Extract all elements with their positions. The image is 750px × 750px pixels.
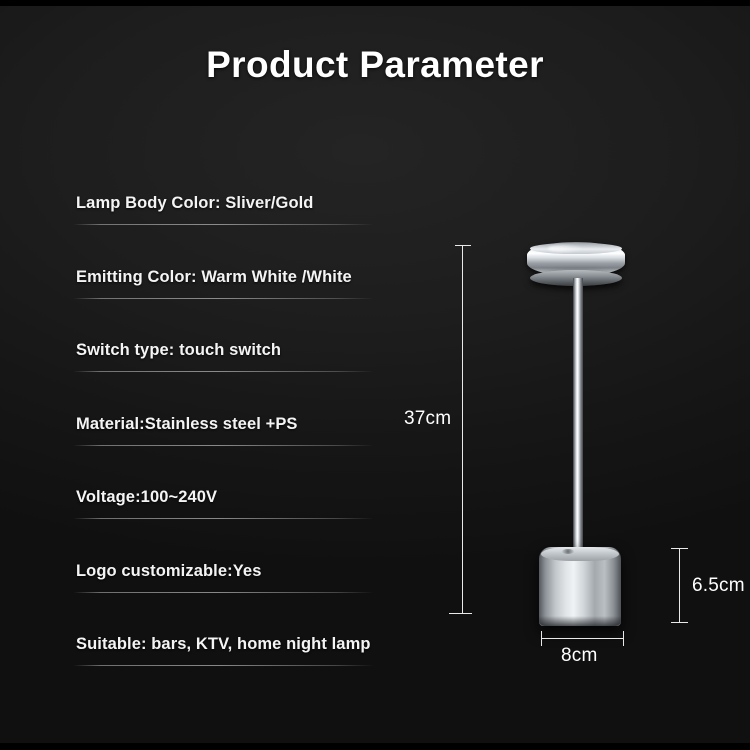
spec-row-material: Material:Stainless steel +PS <box>74 415 374 489</box>
spec-label-material: Material:Stainless steel +PS <box>76 415 298 434</box>
spec-divider <box>74 665 372 666</box>
product-parameter-page: Product Parameter Lamp Body Color: Slive… <box>0 0 750 750</box>
spec-label-voltage: Voltage:100~240V <box>76 488 217 507</box>
dimension-tick-total-height-top <box>455 245 471 246</box>
dimension-label-base-height: 6.5cm <box>692 575 745 597</box>
dimension-tick-base-width-right <box>623 631 624 646</box>
dimension-tick-base-height-top <box>671 548 688 549</box>
bottom-edge-bar <box>0 743 750 750</box>
spec-divider <box>74 445 372 446</box>
dimension-line-total-height <box>462 245 463 614</box>
spec-label-lamp-body-color: Lamp Body Color: Sliver/Gold <box>76 194 314 213</box>
dimension-line-base-height <box>679 548 680 623</box>
spec-row-switch-type: Switch type: touch switch <box>74 341 374 415</box>
spec-row-emitting-color: Emitting Color: Warm White /White <box>74 268 374 342</box>
dimension-tick-total-height-bottom <box>449 613 472 614</box>
spec-divider <box>74 592 372 593</box>
lamp-base <box>539 547 621 626</box>
spec-label-switch-type: Switch type: touch switch <box>76 341 281 360</box>
lamp-base-screw <box>562 549 574 554</box>
spec-list: Lamp Body Color: Sliver/Gold Emitting Co… <box>74 194 374 709</box>
dimension-label-total-height: 37cm <box>404 408 451 430</box>
spec-label-suitable: Suitable: bars, KTV, home night lamp <box>76 635 371 654</box>
spec-divider <box>74 224 372 225</box>
spec-divider <box>74 298 372 299</box>
lamp-stem <box>573 278 583 556</box>
spec-label-logo-customizable: Logo customizable:Yes <box>76 562 261 581</box>
dimension-label-base-width: 8cm <box>561 645 598 667</box>
spec-row-lamp-body-color: Lamp Body Color: Sliver/Gold <box>74 194 374 268</box>
spec-label-emitting-color: Emitting Color: Warm White /White <box>76 268 352 287</box>
spec-divider <box>74 371 372 372</box>
spec-row-suitable: Suitable: bars, KTV, home night lamp <box>74 635 374 709</box>
dimension-line-base-width <box>541 638 624 639</box>
lamp-head-lip <box>530 270 622 286</box>
lamp-head <box>527 242 625 276</box>
spec-divider <box>74 518 372 519</box>
dimension-tick-base-width-left <box>541 631 542 646</box>
dimension-tick-base-height-bottom <box>671 622 688 623</box>
top-edge-bar <box>0 0 750 6</box>
spec-row-voltage: Voltage:100~240V <box>74 488 374 562</box>
page-title: Product Parameter <box>0 44 750 86</box>
spec-row-logo-customizable: Logo customizable:Yes <box>74 562 374 636</box>
